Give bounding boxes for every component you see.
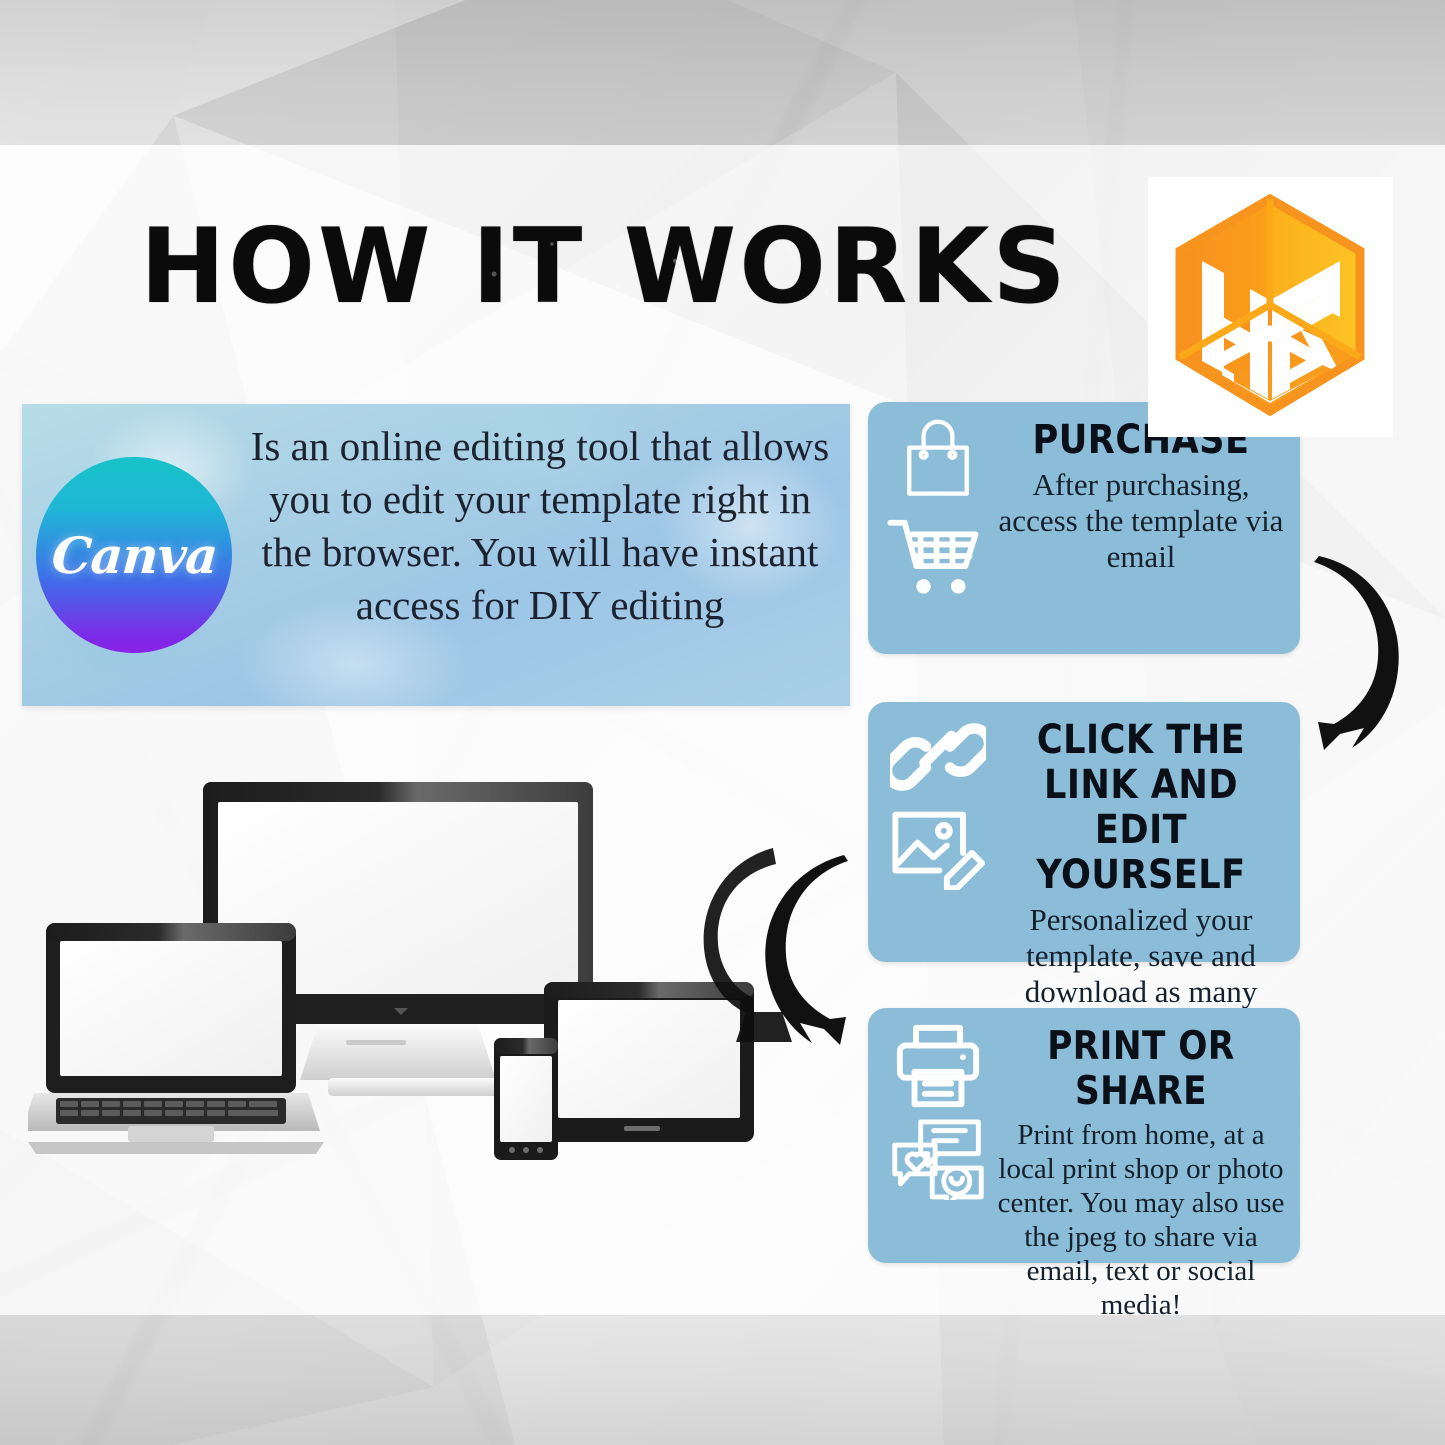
step-2-body: CLICK THE LINK AND EDIT YOURSELF Persona…: [994, 718, 1288, 1046]
background-band-top: [0, 0, 1445, 145]
step-1-body: PURCHASE After purchasing, access the te…: [994, 418, 1288, 575]
chain-link-icon: [890, 716, 986, 798]
step-card-edit: CLICK THE LINK AND EDIT YOURSELF Persona…: [868, 702, 1300, 962]
background-band-bottom: [0, 1315, 1445, 1445]
device-mockups: [28, 768, 818, 1168]
canva-logo-text: Canva: [49, 526, 218, 585]
laptop-mockup: [28, 923, 324, 1154]
step-1-icons: [884, 416, 992, 598]
step-2-icons: [884, 716, 992, 890]
curved-arrow-down-left-icon: [1294, 542, 1424, 764]
step-3-body: PRINT OR SHARE Print from home, at a loc…: [994, 1024, 1288, 1322]
step-card-print: PRINT OR SHARE Print from home, at a loc…: [868, 1008, 1300, 1263]
printer-icon: [892, 1022, 984, 1110]
tablet-mockup: [544, 982, 754, 1142]
shopping-cart-icon: [886, 514, 990, 598]
page-title-text: HOW IT WORKS: [140, 207, 1069, 327]
step-3-title: PRINT OR SHARE: [1012, 1024, 1271, 1114]
page-title: HOW IT WORKS: [140, 208, 863, 328]
image-edit-icon: [888, 804, 988, 890]
brand-logo: [1148, 177, 1393, 437]
chat-bubbles-icon: [889, 1116, 987, 1200]
step-3-icons: [884, 1022, 992, 1200]
arrow-purchase-to-edit: [1294, 542, 1424, 764]
hrg-cube-icon: [1148, 177, 1393, 437]
step-2-title: CLICK THE LINK AND EDIT YOURSELF: [1012, 718, 1271, 898]
canva-logo: Canva: [36, 457, 232, 653]
step-card-purchase: PURCHASE After purchasing, access the te…: [868, 402, 1300, 654]
canva-description: Is an online editing tool that allows yo…: [250, 420, 830, 632]
step-1-description: After purchasing, access the template vi…: [994, 467, 1288, 575]
step-3-description: Print from home, at a local print shop o…: [994, 1118, 1288, 1322]
devices-illustration: [28, 768, 818, 1168]
shopping-bag-icon: [892, 416, 984, 508]
smartphone-mockup: [494, 1038, 558, 1160]
canva-info-panel: Canva Is an online editing tool that all…: [22, 404, 850, 706]
infographic-canvas: HOW IT WORKS: [0, 0, 1445, 1445]
